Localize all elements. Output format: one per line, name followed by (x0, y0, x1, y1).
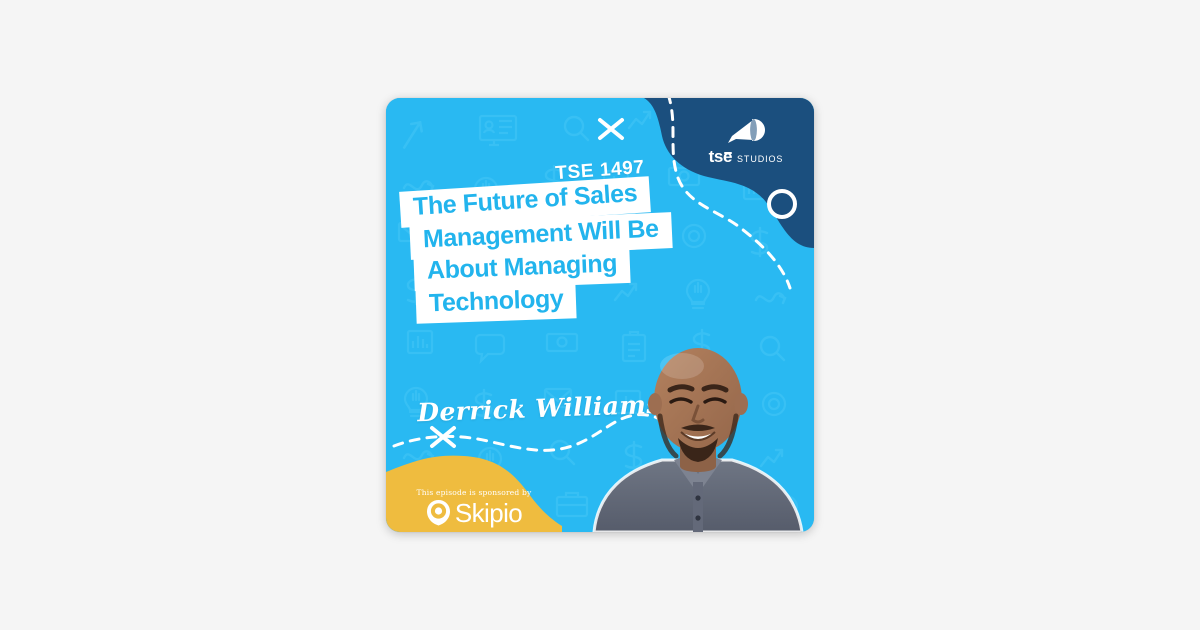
sponsor-brand: Skipio (426, 499, 522, 526)
page-canvas: tse STUDIOS TSE 1497 The Future of (0, 0, 1200, 630)
sponsor-name: Skipio (455, 500, 522, 526)
sponsor-block: This episode is sponsored by Skipio (386, 488, 562, 526)
megaphone-icon (723, 117, 769, 147)
sponsor-kicker: This episode is sponsored by (417, 488, 532, 497)
skipio-pin-icon (426, 499, 451, 526)
podcast-cover-art: tse STUDIOS TSE 1497 The Future of (386, 98, 814, 532)
title-band-stack: The Future of Sales Management Will Be A… (386, 184, 814, 320)
guest-photo (582, 332, 814, 532)
title-line-4: Technology (415, 282, 577, 323)
